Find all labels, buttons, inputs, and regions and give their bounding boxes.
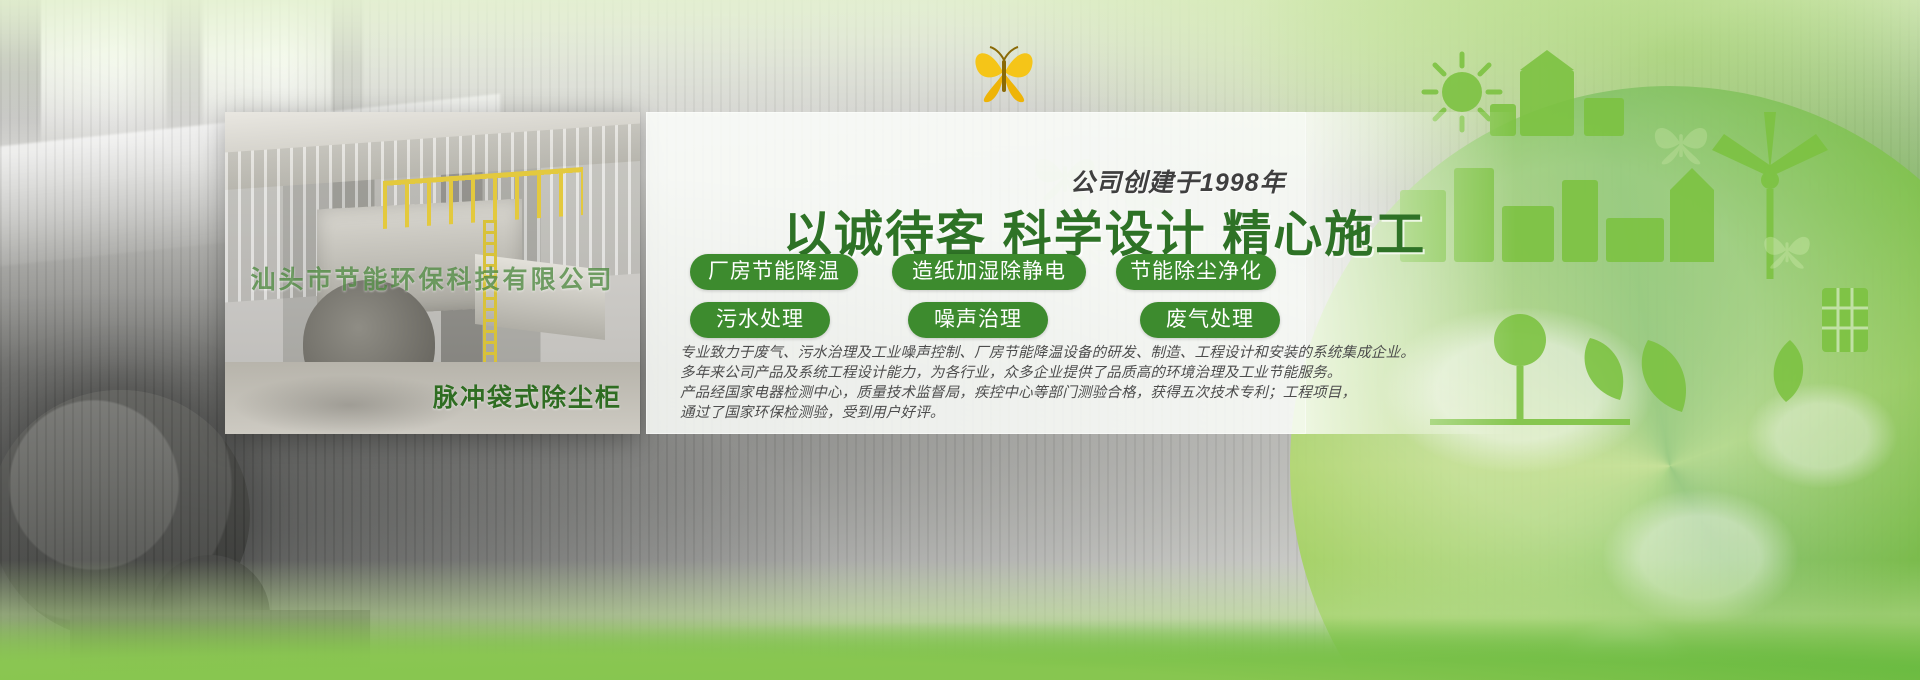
service-tag-dust-purify[interactable]: 节能除尘净化: [1116, 254, 1276, 290]
description-line: 通过了国家环保检测验，受到用户好评。: [680, 403, 1320, 423]
established-line: 公司创建于1998年: [1070, 163, 1286, 199]
service-tag-group: 厂房节能降温 造纸加湿除静电 节能除尘净化 污水处理 噪声治理 废气处理: [690, 254, 1310, 350]
butterfly-pale-icon: [1760, 230, 1814, 270]
description-line: 专业致力于废气、污水治理及工业噪声控制、厂房节能降温设备的研发、制造、工程设计和…: [680, 343, 1320, 363]
description-line: 产品经国家电器检测中心，质量技术监督局，疾控中心等部门测验合格，获得五次技术专利…: [680, 383, 1320, 403]
service-tag-row: 污水处理 噪声治理 废气处理: [690, 302, 1310, 338]
butterfly-pale-icon: [1650, 120, 1712, 166]
service-tag-sewage[interactable]: 污水处理: [690, 302, 830, 338]
service-tag-noise[interactable]: 噪声治理: [908, 302, 1048, 338]
description-line: 多年来公司产品及系统工程设计能力，为各行业，众多企业提供了品质高的环境治理及工业…: [680, 363, 1320, 383]
service-tag-exhaust[interactable]: 废气处理: [1140, 302, 1280, 338]
service-tag-row: 厂房节能降温 造纸加湿除静电 节能除尘净化: [690, 254, 1310, 290]
butterfly-yellow-icon: [968, 42, 1040, 106]
service-tag-cooling[interactable]: 厂房节能降温: [690, 254, 858, 290]
company-description: 专业致力于废气、污水治理及工业噪声控制、厂房节能降温设备的研发、制造、工程设计和…: [680, 343, 1320, 423]
banner-stage: 汕头市节能环保科技有限公司 脉冲袋式除尘柜 公司创建于1998年 以诚待客 科学…: [0, 0, 1920, 680]
project-photo-card: 汕头市节能环保科技有限公司 脉冲袋式除尘柜: [225, 112, 640, 434]
eco-bottom-wave: [0, 560, 1920, 680]
photo-watermark: 汕头市节能环保科技有限公司: [225, 260, 640, 296]
service-tag-paper-humidify[interactable]: 造纸加湿除静电: [892, 254, 1086, 290]
photo-caption: 脉冲袋式除尘柜: [433, 378, 622, 414]
